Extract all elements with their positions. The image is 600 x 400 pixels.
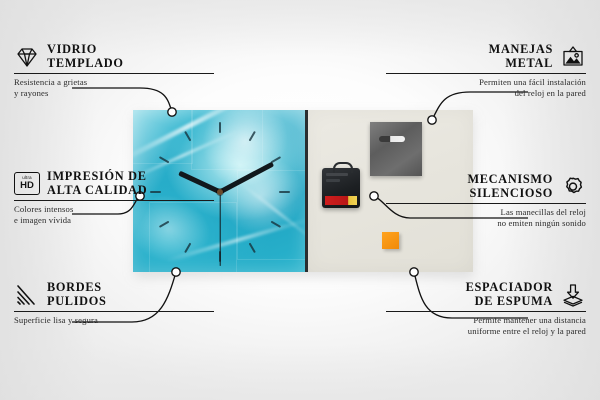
feature-title: MECANISMO SILENCIOSO <box>467 173 553 200</box>
feature-description: Resistencia a grietas y rayones <box>14 77 214 98</box>
feature-title-line1: BORDES <box>47 280 102 294</box>
minute-hand <box>219 162 274 195</box>
feature-title-line1: MANEJAS <box>489 42 553 56</box>
feature-title-line1: ESPACIADOR <box>466 280 553 294</box>
feature-header: MECANISMO SILENCIOSO <box>386 173 586 200</box>
feature-divider <box>386 73 586 74</box>
feature-header: ultra HD IMPRESIÓN DE ALTA CALIDAD <box>14 170 214 197</box>
feature-desc-line2: uniforme entre el reloj y la pared <box>468 326 586 336</box>
feature-desc-line2: del reloj en la pared <box>515 88 586 98</box>
feature-title-line2: ALTA CALIDAD <box>47 183 147 197</box>
feature-espaciador-espuma[interactable]: ESPACIADOR DE ESPUMA Permite mantener un… <box>386 281 586 336</box>
hanger-keyhole <box>379 136 405 142</box>
feature-manejas-metal[interactable]: MANEJAS METAL Permiten una fácil instala… <box>386 43 586 98</box>
feature-desc-line1: Permite mantener una distancia <box>473 315 586 325</box>
feature-desc-line2: y rayones <box>14 88 49 98</box>
feature-title-line1: VIDRIO <box>47 42 97 56</box>
feature-bordes-pulidos[interactable]: BORDES PULIDOS Superficie lisa y segura <box>14 281 214 326</box>
feature-title: MANEJAS METAL <box>489 43 553 70</box>
feature-mecanismo-silencioso[interactable]: MECANISMO SILENCIOSO Las manecillas del … <box>386 173 586 228</box>
picture-frame-hanger-icon <box>560 45 586 69</box>
feature-description: Superficie lisa y segura <box>14 315 214 326</box>
hd-icon-big-text: HD <box>20 181 34 191</box>
feature-divider <box>14 73 214 74</box>
metal-hanger-plate <box>370 122 422 176</box>
diamond-icon <box>14 45 40 69</box>
feature-desc-line1: Permiten una fácil instalación <box>479 77 586 87</box>
feature-title-line2: DE ESPUMA <box>475 294 553 308</box>
feature-header: MANEJAS METAL <box>386 43 586 70</box>
feature-title-line1: MECANISMO <box>467 172 553 186</box>
feature-header: ESPACIADOR DE ESPUMA <box>386 281 586 308</box>
feature-desc-line2: e imagen vívida <box>14 215 71 225</box>
gear-icon <box>560 175 586 199</box>
clock-center-cap <box>217 189 223 195</box>
feature-divider <box>14 311 214 312</box>
infographic-canvas: VIDRIO TEMPLADO Resistencia a grietas y … <box>0 0 600 400</box>
movement-label <box>325 196 357 205</box>
ultra-hd-icon: ultra HD <box>14 172 40 196</box>
movement-detail <box>326 179 340 182</box>
movement-bail <box>333 162 353 173</box>
arrow-onto-layers-icon <box>560 283 586 307</box>
feature-title: VIDRIO TEMPLADO <box>47 43 124 70</box>
feature-divider <box>386 203 586 204</box>
feature-title-line2: TEMPLADO <box>47 56 124 70</box>
feature-title-line1: IMPRESIÓN DE <box>47 169 147 183</box>
feature-title-line2: PULIDOS <box>47 294 107 308</box>
feature-description: Permite mantener una distancia uniforme … <box>386 315 586 336</box>
feature-desc-line1: Colores intensos <box>14 204 73 214</box>
feature-desc-line1: Superficie lisa y segura <box>14 315 98 325</box>
diagonal-stripes-icon <box>14 283 40 307</box>
feature-description: Colores intensos e imagen vívida <box>14 204 214 225</box>
feature-impresion-alta-calidad[interactable]: ultra HD IMPRESIÓN DE ALTA CALIDAD Color… <box>14 170 214 225</box>
feature-description: Permiten una fácil instalación del reloj… <box>386 77 586 98</box>
feature-description: Las manecillas del reloj no emiten ningú… <box>386 207 586 228</box>
feature-vidrio-templado[interactable]: VIDRIO TEMPLADO Resistencia a grietas y … <box>14 43 214 98</box>
feature-title: IMPRESIÓN DE ALTA CALIDAD <box>47 170 147 197</box>
second-hand <box>219 192 220 266</box>
foam-spacer-pad <box>382 232 399 249</box>
quartz-movement <box>322 168 360 208</box>
movement-detail <box>326 173 348 176</box>
feature-divider <box>14 200 214 201</box>
feature-header: BORDES PULIDOS <box>14 281 214 308</box>
feature-desc-line2: no emiten ningún sonido <box>497 218 586 228</box>
feature-title-line2: SILENCIOSO <box>469 186 553 200</box>
feature-title-line2: METAL <box>505 56 553 70</box>
feature-divider <box>386 311 586 312</box>
feature-title: ESPACIADOR DE ESPUMA <box>466 281 553 308</box>
feature-header: VIDRIO TEMPLADO <box>14 43 214 70</box>
feature-desc-line1: Las manecillas del reloj <box>501 207 586 217</box>
feature-desc-line1: Resistencia a grietas <box>14 77 87 87</box>
feature-title: BORDES PULIDOS <box>47 281 107 308</box>
